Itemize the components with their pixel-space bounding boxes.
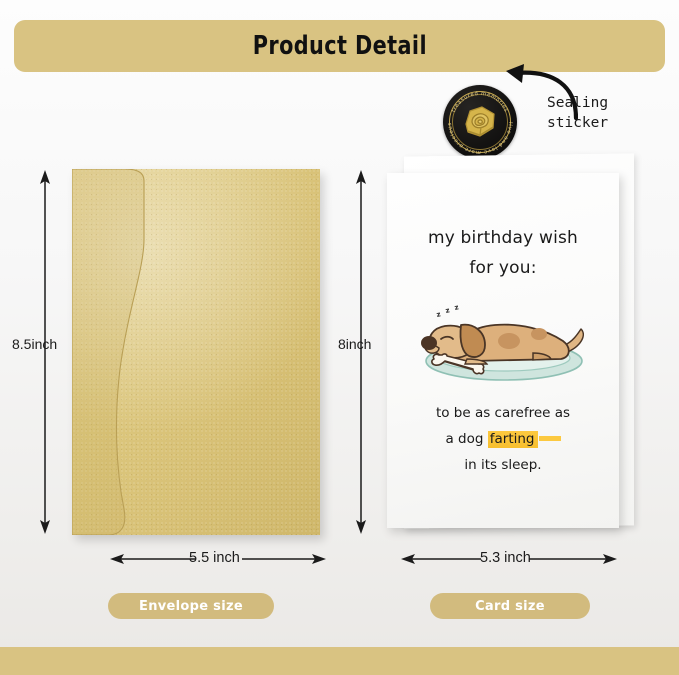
callout-line-2: sticker [547,113,657,133]
card-message-bottom-2: a dog farting [387,431,619,447]
sleeping-dog-illustration: z z z [415,301,593,385]
envelope-image [72,169,320,535]
card-message-bottom-1: to be as carefree as [387,405,619,421]
footer-band [0,647,679,675]
svg-text:z: z [436,310,442,319]
card-message-top-2: for you: [387,258,619,278]
card-height-label: 8inch [338,336,371,352]
svg-text:z: z [454,303,460,312]
sticker-callout-label: Sealing sticker [547,93,657,133]
envelope-height-label: 8.5inch [12,336,57,352]
card-message-bottom-2-pre: a dog [445,431,487,447]
greeting-card: my birthday wish for you: [387,173,619,528]
envelope-height-line [38,170,52,534]
product-detail-page: Product Detail treasured memories live a… [0,0,679,675]
envelope-width-label: 5.5 inch [189,550,240,566]
svg-text:z: z [445,306,451,315]
highlight-tail [539,436,561,441]
card-size-pill: Card size [430,593,590,619]
card-message-top-1: my birthday wish [387,228,619,248]
callout-line-1: Sealing [547,93,657,113]
rose-icon [460,102,500,142]
envelope-size-pill: Envelope size [108,593,274,619]
card-message-highlight: farting [488,431,538,448]
envelope-flap [72,169,192,535]
card-height-line [354,170,368,534]
page-title: Product Detail [252,31,426,61]
card-width-label: 5.3 inch [480,550,531,566]
card-message-bottom-3: in its sleep. [387,457,619,473]
sealing-sticker: treasured memories live and love more pr… [443,85,517,159]
